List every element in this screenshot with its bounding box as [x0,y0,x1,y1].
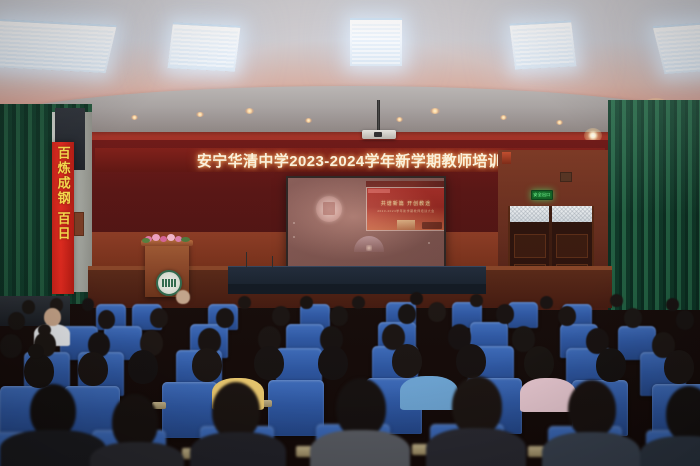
projection-screen-frame: 共谱新篇 开创教途 2023-2024学年新学期教师培训大会 [286,176,446,272]
podium-flower-arrangement [143,233,191,244]
door-panel-upper-right [556,234,588,258]
screen-stage-dome-shape [354,236,384,252]
screen-window-titlebar [366,181,444,187]
audience-head [82,298,94,311]
wall-vent-grille [560,172,572,182]
projector-lens [374,132,382,137]
flower [160,236,167,242]
event-banner-text: 安宁华清中学2023-2024学年新学期教师培训 [197,150,503,171]
audience-head [238,296,251,309]
audience-head [624,308,642,328]
hair-bun [38,324,51,336]
screen-icon-dot [293,222,295,224]
ceiling-panel-light-1 [0,19,117,73]
audience-head [192,348,222,382]
audience-head [398,304,416,324]
media-window-title-chip [368,189,390,193]
audience-head [558,306,576,326]
audience-shoulders [400,376,458,410]
slide-podium-shape [397,220,415,230]
right-curtain-highlight [608,100,700,310]
flower-leaf [142,238,150,243]
downlight-3 [245,108,254,114]
audience-head [666,298,679,311]
screen-icon-dot-2 [293,236,295,238]
vertical-banner-text: 百炼成钢 百日 [54,146,71,242]
audience-shoulders [542,432,640,466]
audience-shoulders [190,432,286,466]
audience-head [524,346,554,380]
audience-head [150,308,168,328]
audience-head [254,346,284,380]
audience-head [330,306,348,326]
projector-mount-pole [377,100,380,132]
flower [152,234,160,241]
audience-area [0,282,700,466]
audience-head [8,312,25,330]
emergency-exit-sign: 安全出口 [531,190,553,200]
audience-head [300,296,313,309]
audience-head [666,386,700,442]
downlight-1 [131,115,138,120]
audience-head [22,300,35,314]
audience-head [496,304,514,324]
microphone-stand [246,252,247,268]
audience-shoulders [90,442,184,466]
downlight-5 [396,117,403,122]
audience-head [78,352,108,386]
audience-head [98,310,115,329]
audience-head [676,310,694,330]
audience-head [318,346,348,380]
audience-head [410,292,423,305]
projection-screen: 共谱新篇 开创教途 2023-2024学年新学期教师培训大会 [288,178,444,270]
audience-head [44,308,61,326]
downlight-7 [500,115,507,120]
ceiling-panel-light-3 [350,18,402,66]
slide-headline: 共谱新篇 开创教途 [367,200,444,207]
downlight-4 [305,118,312,123]
audience-head [128,350,158,384]
audience-head [428,302,446,322]
flower-leaf [181,237,190,242]
wall-mounted-box [74,212,84,236]
slide-subline: 2023-2024学年新学期教师培训大会 [367,209,444,213]
audience-head [596,348,626,382]
audience-head [456,344,486,378]
audience-head [272,306,290,326]
audience-head [24,354,54,388]
hair-bun [28,344,44,359]
audience-head [568,380,616,438]
screen-media-window: 共谱新篇 开创教途 2023-2024学年新学期教师培训大会 [366,187,444,231]
audience-shoulders [426,428,526,466]
audience-head [452,376,502,436]
slide-table-shape [422,222,442,229]
downlight-2 [196,112,204,117]
downlight-8 [556,120,563,125]
microphone-stand-2 [272,256,273,268]
audience-shoulders [310,430,410,466]
audience-head [0,334,22,358]
audience-head [392,344,422,378]
auditorium-photo: 安宁华清中学2023-2024学年新学期教师培训 共谱新篇 开创教途 2023-… [0,0,700,466]
audience-head [336,378,386,438]
screen-watermark-logo-icon [316,196,342,222]
screen-cursor-dot [428,242,430,244]
flower [167,234,175,241]
audience-head [216,308,234,328]
vertical-red-banner: 百炼成钢 百日 [52,142,74,294]
audience-head [664,350,694,384]
audience-head [610,294,623,307]
ceiling-panel-light-4 [509,20,576,69]
audience-head [470,294,483,307]
ceiling-panel-light-2 [167,22,240,72]
downlight-6 [430,108,440,114]
audience-head [540,296,553,309]
audience-head [352,296,365,309]
door-panel-upper-left [514,234,546,258]
wall-sconce [502,152,511,164]
audience-head [176,290,190,304]
exit-sign-label: 安全出口 [533,192,550,198]
